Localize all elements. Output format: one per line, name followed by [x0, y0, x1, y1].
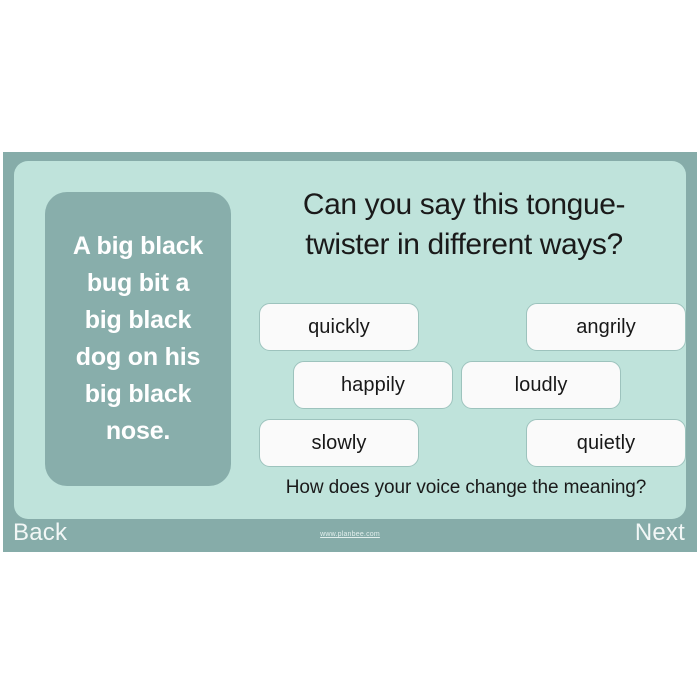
sub-question-text: How does your voice change the meaning? — [246, 477, 686, 499]
option-button-loudly[interactable]: loudly — [461, 361, 621, 409]
option-button-angrily[interactable]: angrily — [526, 303, 686, 351]
option-button-quickly[interactable]: quickly — [259, 303, 419, 351]
slide-heading: Can you say this tongue- twister in diff… — [250, 185, 678, 265]
site-watermark: www.planbee.com — [3, 531, 697, 538]
option-button-quietly[interactable]: quietly — [526, 419, 686, 467]
activity-column: Can you say this tongue- twister in diff… — [246, 177, 676, 517]
option-button-happily[interactable]: happily — [293, 361, 453, 409]
slide-content-panel: A big black bug bit a big black dog on h… — [14, 161, 686, 519]
tongue-twister-text: A big black bug bit a big black dog on h… — [73, 228, 203, 450]
next-button[interactable]: Next — [635, 519, 685, 547]
tongue-twister-card: A big black bug bit a big black dog on h… — [45, 192, 231, 486]
screenshot-canvas: A big black bug bit a big black dog on h… — [0, 0, 700, 700]
option-button-slowly[interactable]: slowly — [259, 419, 419, 467]
lesson-slide: A big black bug bit a big black dog on h… — [3, 152, 697, 552]
